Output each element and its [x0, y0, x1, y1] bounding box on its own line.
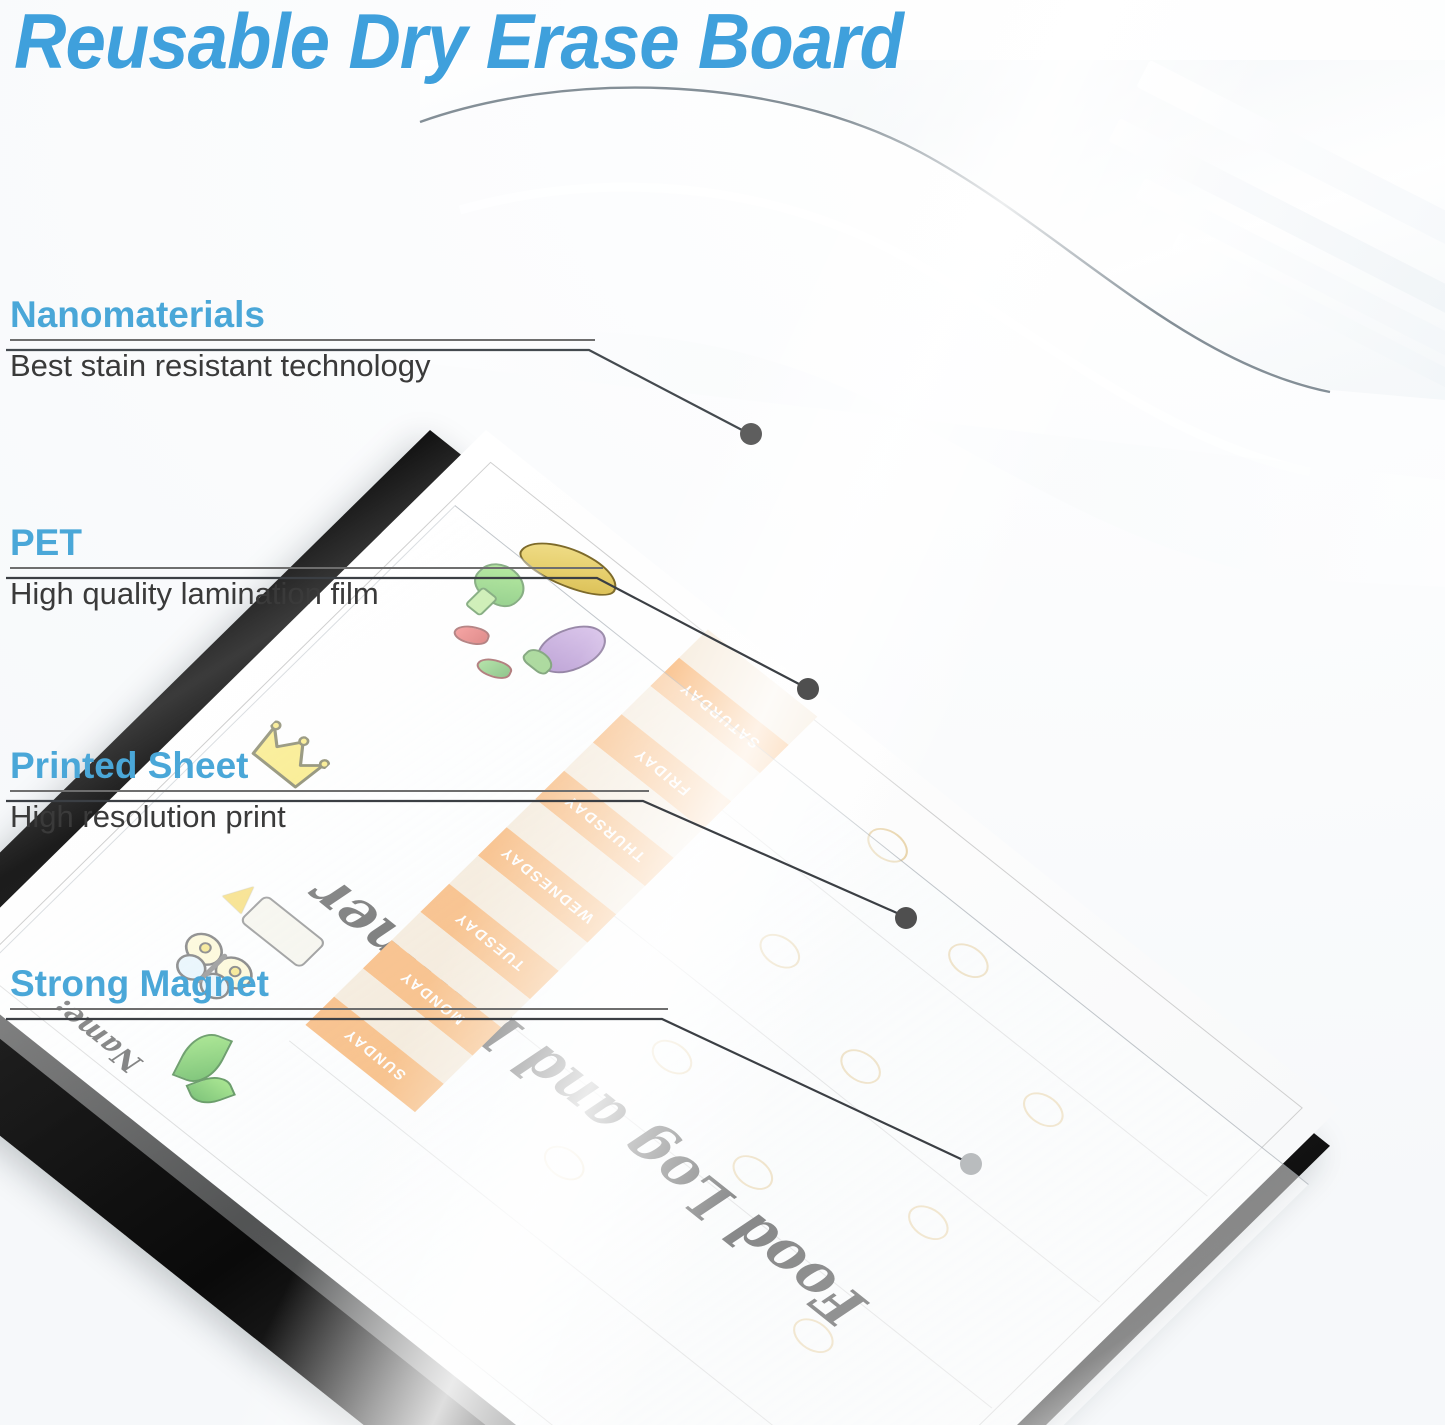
callout-title-pet: PET [10, 524, 603, 563]
callout-title-printed-sheet: Printed Sheet [10, 747, 649, 786]
product-illustration: Food Log and Planner Name: SATURDAY FRID… [0, 0, 1445, 1425]
callout-title-strong-magnet: Strong Magnet [10, 965, 668, 1004]
callout-description-printed-sheet: High resolution print [10, 799, 649, 835]
callout-rule-printed-sheet [10, 790, 649, 792]
page-title: Reusable Dry Erase Board [14, 0, 903, 87]
callout-nanomaterials: Nanomaterials Best stain resistant techn… [10, 296, 595, 384]
callout-rule-nanomaterials [10, 339, 595, 341]
callout-rule-pet [10, 567, 603, 569]
callout-rule-strong-magnet [10, 1008, 668, 1010]
callout-title-nanomaterials: Nanomaterials [10, 296, 595, 335]
callout-printed-sheet: Printed Sheet High resolution print [10, 747, 649, 835]
callout-pet: PET High quality lamination film [10, 524, 603, 612]
callout-description-pet: High quality lamination film [10, 576, 603, 612]
infographic-canvas: Food Log and Planner Name: SATURDAY FRID… [0, 0, 1445, 1425]
callout-strong-magnet: Strong Magnet [10, 965, 668, 1017]
callout-description-nanomaterials: Best stain resistant technology [10, 348, 595, 384]
